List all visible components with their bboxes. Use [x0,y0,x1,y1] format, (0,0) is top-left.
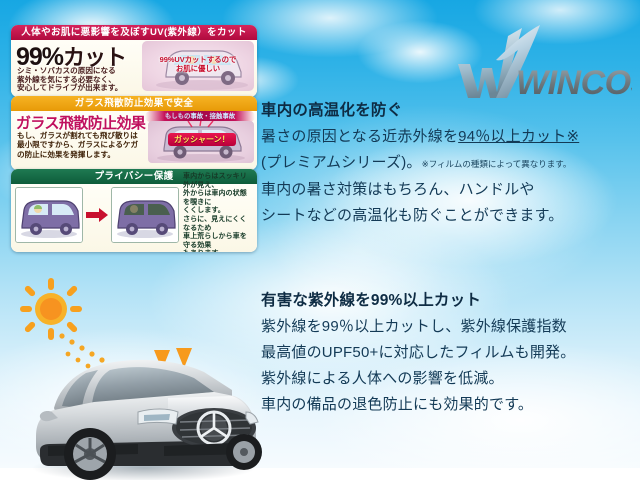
uv-car-illustration: 99%UVカットするので お肌に優しい [142,41,254,91]
panel-glass-header: ガラス飛散防止効果で安全 [11,96,257,111]
arrow-shaft [86,212,100,218]
wincos-logo: WINCOS [452,24,632,102]
heat-line-2-plain: (プレミアムシリーズ)。 [261,154,422,171]
heat-heading: 車内の高温化を防ぐ [261,98,637,120]
uv-line-3: 紫外線による人体への影響を低減。 [261,366,637,392]
car-svg [18,342,266,480]
heat-line-4: シートなどの高温化も防ぐことができます。 [261,203,637,229]
heat-text-block: 車内の高温化を防ぐ 暑さの原因となる近赤外線を94％以上カット※ (プレミアムシ… [261,98,637,229]
privacy-after-svg [112,188,178,242]
heat-line-2-note: ※フィルムの種類によって異なります。 [422,159,572,169]
privacy-body-text: 車内からはスッキリ外が見え、 外からは車内の状態を覗きに くくします。 さらに、… [182,172,253,252]
panel-uv-body: 99%カット シミ・ソバカスの原因になる 紫外線を気にする必要なく、 安心してド… [11,40,257,97]
uv-heading: 有害な紫外線を99%以上カット [261,288,637,310]
panel-privacy-body: 車内からはスッキリ外が見え、 外からは車内の状態を覗きに くくします。 さらに、… [11,184,257,252]
glass-body-text: もし、ガラスが割れても飛び散りは 最小限ですから、ガラスによるケガ の防止に効果… [17,131,138,159]
privacy-comparison-row: 車内からはスッキリ外が見え、 外からは車内の状態を覗きに くくします。 さらに、… [15,187,253,243]
heat-line-2: (プレミアムシリーズ)。※フィルムの種類によって異なります。 [261,150,637,177]
panel-glass-shatter: ガラス飛散防止効果で安全 ガラス飛散防止効果 もし、ガラスが割れても飛び散りは … [11,96,257,170]
panel-privacy: プライバシー保護 [11,169,257,252]
uv-line-4: 車内の備品の退色防止にも効果的です。 [261,392,637,418]
privacy-before-svg [16,188,82,242]
uv-line-2: 最高値のUPF50+に対応したフィルムも開発。 [261,340,637,366]
uv-body-text: シミ・ソバカスの原因になる 紫外線を気にする必要なく、 安心してドライブが出来ま… [17,67,122,93]
glass-bang-label: ガッシャーン！ [168,133,236,146]
poster-root: WINCOS 人体やお肌に悪影響を及ぼすUV(紫外線）をカット 99%カット シ… [0,0,640,480]
panel-uv-cut: 人体やお肌に悪影響を及ぼすUV(紫外線）をカット 99%カット シミ・ソバカスの… [11,25,257,97]
panel-glass-body: ガラス飛散防止効果 もし、ガラスが割れても飛び散りは 最小限ですから、ガラスによ… [11,111,257,170]
wincos-logo-svg: WINCOS [452,24,632,102]
glass-car-illustration: ガッシャーン！ [148,121,254,163]
logo-wordmark: WINCOS [516,64,632,102]
privacy-after-car [111,187,179,243]
uv-line-1: 紫外線を99％以上カットし、紫外線保護指数 [261,314,637,340]
heat-line-1: 暑さの原因となる近赤外線を94％以上カット※ [261,124,637,150]
uv-text-block: 有害な紫外線を99%以上カット 紫外線を99％以上カットし、紫外線保護指数 最高… [261,288,637,418]
heat-line-3: 車内の暑さ対策はもちろん、ハンドルや [261,177,637,203]
arrow-head [99,208,108,222]
glass-title: ガラス飛散防止効果 [16,112,145,133]
heat-line-1-underline: 94％以上カット※ [458,128,579,145]
uv-car-note: 99%UVカットするので お肌に優しい [145,55,251,73]
heat-line-1-plain: 暑さの原因となる近赤外線を [261,128,458,145]
silver-sedan-car [18,342,266,480]
privacy-arrow-icon [86,208,108,222]
panel-uv-header: 人体やお肌に悪影響を及ぼすUV(紫外線）をカット [11,25,257,40]
privacy-before-car [15,187,83,243]
